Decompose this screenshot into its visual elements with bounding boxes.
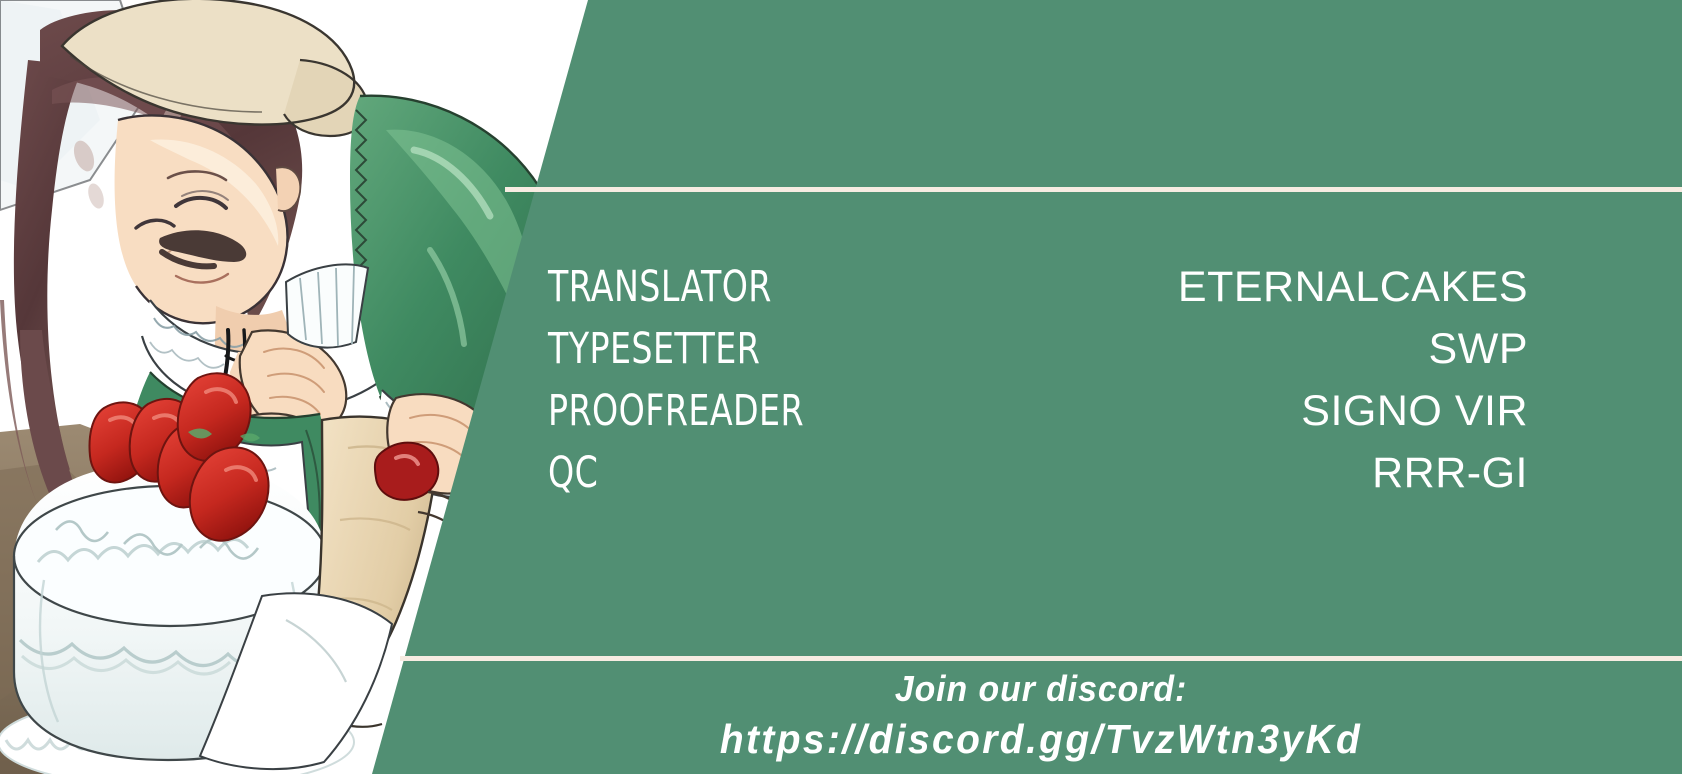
credit-role-translator: TRANSLATOR: [548, 262, 772, 312]
credit-role-typesetter: TYPESETTER: [548, 324, 760, 374]
credits-page: THE PATISSERIE Hibiki - Shousetsuka ni N…: [0, 0, 1682, 774]
credit-name-typesetter: SWP: [1429, 325, 1528, 374]
discord-link[interactable]: https://discord.gg/TvzWtn3yKd: [432, 716, 1650, 763]
divider-bottom: [400, 656, 1682, 661]
divider-top: [505, 187, 1682, 192]
credit-row-qc: QC RRR-GI: [548, 448, 1528, 510]
credit-row-typesetter: TYPESETTER SWP: [548, 324, 1528, 386]
credit-role-qc: QC: [548, 448, 598, 498]
credits-list: TRANSLATOR ETERNALCAKES TYPESETTER SWP P…: [548, 262, 1528, 510]
discord-footer: Join our discord: https://discord.gg/Tvz…: [400, 668, 1682, 763]
credit-role-proofreader: PROOFREADER: [548, 386, 804, 436]
discord-label: Join our discord:: [438, 668, 1643, 710]
credit-name-qc: RRR-GI: [1372, 449, 1528, 498]
credit-name-translator: ETERNALCAKES: [1178, 263, 1528, 312]
credit-row-translator: TRANSLATOR ETERNALCAKES: [548, 262, 1528, 324]
credit-row-proofreader: PROOFREADER SIGNO VIR: [548, 386, 1528, 448]
credit-name-proofreader: SIGNO VIR: [1301, 387, 1528, 436]
